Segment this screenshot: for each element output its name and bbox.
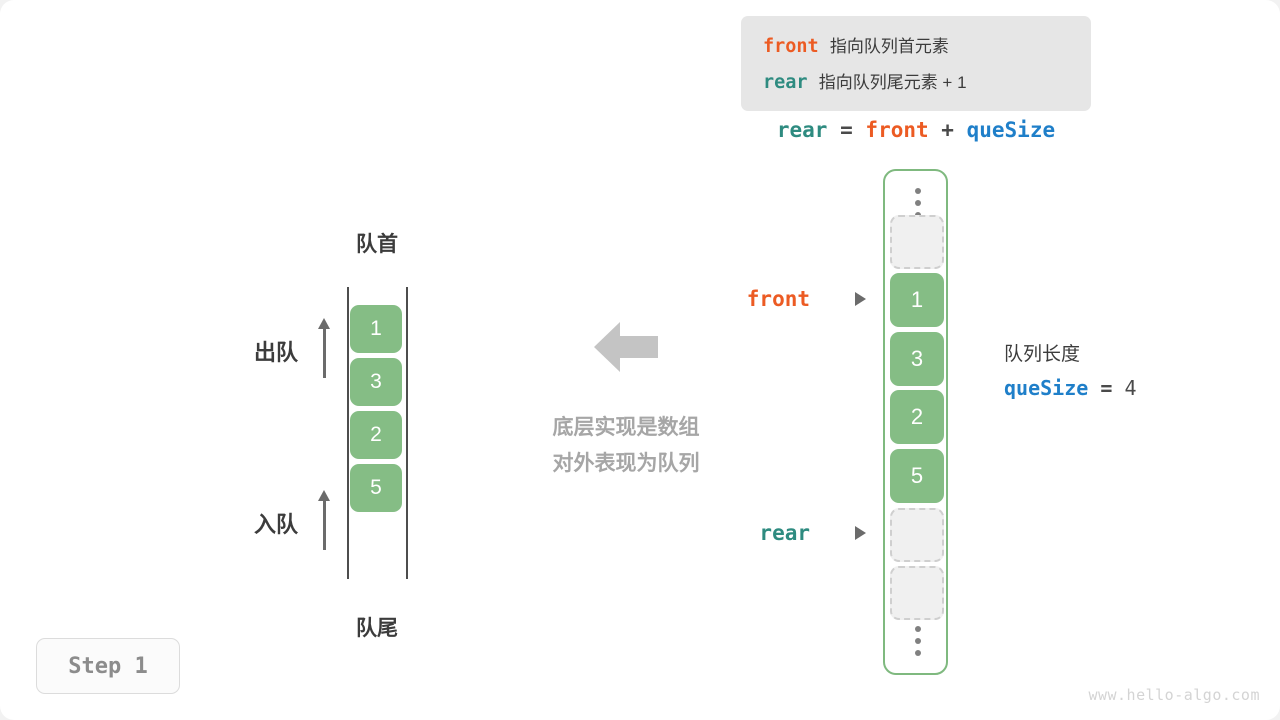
arrow-up-icon-enqueue: [318, 490, 331, 550]
formula-rear: rear: [777, 118, 828, 142]
queue-head-label: 队首: [317, 228, 437, 258]
rear-description: 指向队列尾元素 + 1: [819, 73, 967, 92]
quesize-value: 4: [1124, 376, 1136, 400]
quesize-note-code: queSize = 4: [1004, 370, 1136, 406]
formula-quesize: queSize: [967, 118, 1056, 142]
triangle-right-icon-front: [855, 292, 866, 306]
legend-line-front: front 指向队列首元素: [763, 29, 1091, 65]
front-keyword: front: [763, 36, 819, 57]
queue-cell[interactable]: 1: [350, 305, 402, 353]
array-cell[interactable]: 1: [890, 273, 944, 327]
queue-tail-label: 队尾: [317, 612, 437, 642]
step-badge: Step 1: [36, 638, 180, 694]
quesize-equals: =: [1100, 376, 1112, 400]
formula-expression: rear = front + queSize: [741, 118, 1091, 142]
quesize-note: 队列长度 queSize = 4: [1004, 340, 1136, 406]
legend-line-rear: rear 指向队列尾元素 + 1: [763, 65, 1091, 101]
array-cell[interactable]: [890, 566, 944, 620]
array-cell[interactable]: 2: [890, 390, 944, 444]
diagram-canvas: front 指向队列首元素 rear 指向队列尾元素 + 1 rear = fr…: [0, 0, 1280, 720]
front-pointer-label: front: [700, 287, 810, 311]
queue-rail-left: [347, 287, 349, 579]
formula-equals: =: [840, 118, 853, 142]
front-description: 指向队列首元素: [830, 37, 949, 56]
array-cell[interactable]: [890, 215, 944, 269]
triangle-right-icon-rear: [855, 526, 866, 540]
queue-rail-right: [406, 287, 408, 579]
center-caption-line2: 对外表现为队列: [503, 446, 749, 482]
center-caption: 底层实现是数组 对外表现为队列: [503, 410, 749, 482]
queue-cell[interactable]: 2: [350, 411, 402, 459]
array-container: 1 3 2 5: [883, 169, 948, 675]
rear-pointer-label: rear: [700, 521, 810, 545]
legend-box: front 指向队列首元素 rear 指向队列尾元素 + 1: [741, 16, 1091, 111]
quesize-note-title: 队列长度: [1004, 340, 1136, 370]
dequeue-label: 出队: [254, 335, 298, 367]
formula-plus: +: [941, 118, 954, 142]
array-cell[interactable]: 5: [890, 449, 944, 503]
arrow-left-icon: [594, 320, 658, 374]
formula-front: front: [865, 118, 928, 142]
queue-cell[interactable]: 5: [350, 464, 402, 512]
quesize-name: queSize: [1004, 376, 1088, 400]
center-caption-line1: 底层实现是数组: [503, 410, 749, 446]
rear-keyword: rear: [763, 72, 808, 93]
watermark: www.hello-algo.com: [1088, 686, 1260, 704]
queue-cell[interactable]: 3: [350, 358, 402, 406]
enqueue-label: 入队: [254, 507, 298, 539]
arrow-up-icon-dequeue: [318, 318, 331, 378]
array-cell[interactable]: [890, 508, 944, 562]
array-cell[interactable]: 3: [890, 332, 944, 386]
dots-vertical-icon-bottom: [885, 626, 950, 662]
